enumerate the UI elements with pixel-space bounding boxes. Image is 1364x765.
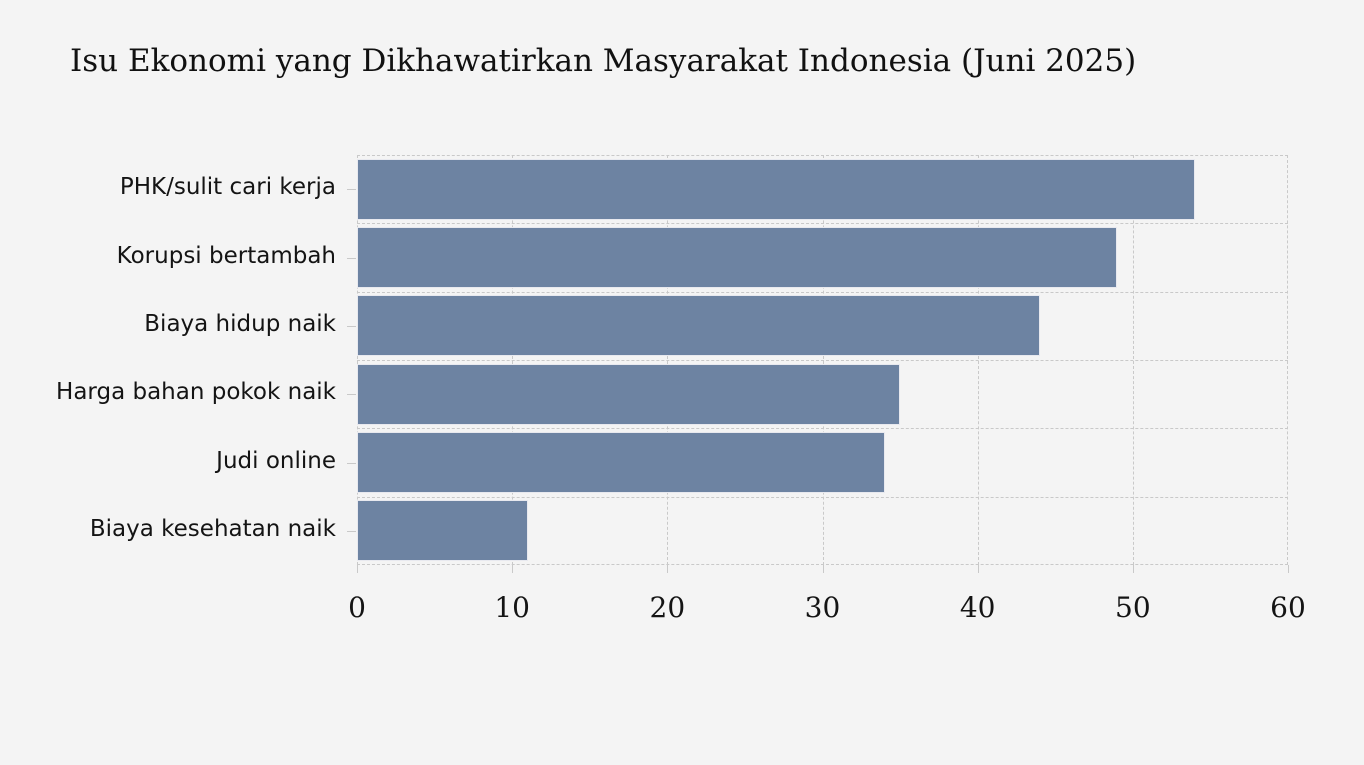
gridline-horizontal: [357, 360, 1288, 361]
y-tick-mark: [347, 531, 356, 532]
y-tick-mark: [347, 189, 356, 190]
x-tick-label: 0: [348, 591, 366, 624]
gridline-horizontal: [357, 497, 1288, 498]
x-tick-mark: [667, 565, 668, 573]
x-tick-label: 40: [960, 591, 996, 624]
y-tick-mark: [347, 258, 356, 259]
y-tick-label: Korupsi bertambah: [117, 243, 336, 269]
y-tick-mark: [347, 394, 356, 395]
plot-area: [357, 155, 1288, 565]
gridline-horizontal: [357, 428, 1288, 429]
bar: [357, 500, 528, 561]
x-tick-mark: [512, 565, 513, 573]
chart-title: Isu Ekonomi yang Dikhawatirkan Masyaraka…: [70, 43, 1136, 79]
x-tick-mark: [823, 565, 824, 573]
gridline-horizontal: [357, 223, 1288, 224]
bar: [357, 295, 1040, 356]
x-tick-label: 50: [1115, 591, 1151, 624]
bar: [357, 227, 1117, 288]
y-tick-label: Biaya kesehatan naik: [90, 516, 336, 542]
x-tick-label: 30: [805, 591, 841, 624]
x-tick-mark: [1288, 565, 1289, 573]
bar: [357, 364, 900, 425]
y-tick-label: Judi online: [216, 448, 336, 474]
y-tick-mark: [347, 463, 356, 464]
y-tick-label: Biaya hidup naik: [144, 311, 336, 337]
y-tick-label: Harga bahan pokok naik: [56, 379, 336, 405]
x-tick-label: 60: [1270, 591, 1306, 624]
gridline-horizontal: [357, 292, 1288, 293]
y-tick-label: PHK/sulit cari kerja: [120, 174, 336, 200]
x-tick-mark: [1133, 565, 1134, 573]
y-tick-mark: [347, 326, 356, 327]
chart-figure: Isu Ekonomi yang Dikhawatirkan Masyaraka…: [0, 0, 1364, 765]
bar: [357, 159, 1195, 220]
x-tick-label: 10: [494, 591, 530, 624]
x-tick-mark: [978, 565, 979, 573]
x-tick-label: 20: [650, 591, 686, 624]
bar: [357, 432, 885, 493]
x-tick-mark: [357, 565, 358, 573]
